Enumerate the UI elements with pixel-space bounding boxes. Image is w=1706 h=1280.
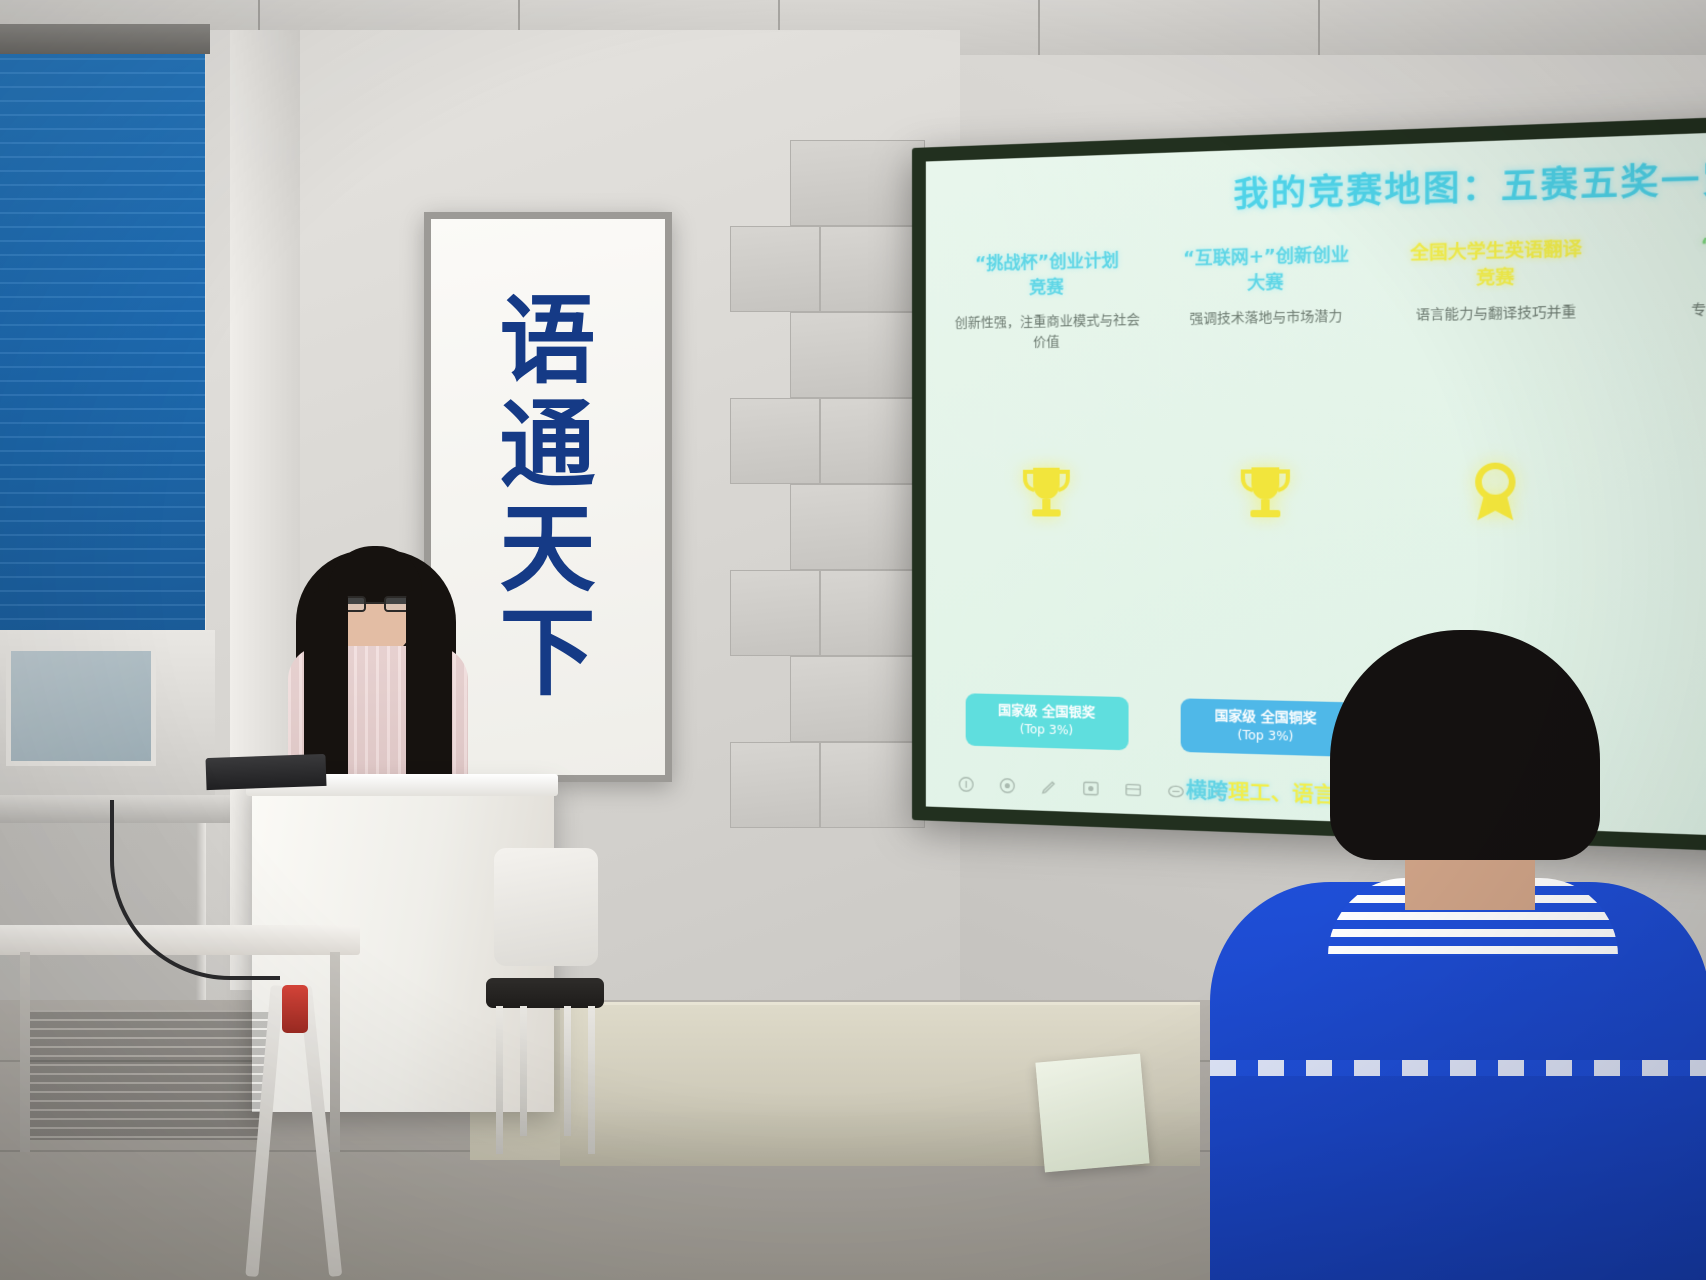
student-hair xyxy=(1330,630,1600,860)
competition-cards: “挑战杯”创业计划 竞赛 创新性强，注重商业模式与社会价值 “互联网+”创新创业… xyxy=(952,227,1706,354)
card-title-line1: 全国大学生英语翻译 xyxy=(1391,236,1602,267)
card-title: “互联网+”创新创业 大赛 xyxy=(1166,242,1367,298)
blind-headrail xyxy=(0,24,210,54)
pen-icon[interactable] xyxy=(1038,776,1058,797)
glasses-icon xyxy=(337,596,413,612)
competition-card: “外研社 语 专业性强，考 xyxy=(1627,230,1706,344)
card-title-line1: “互联网+”创新创业 xyxy=(1166,242,1367,273)
competition-card: “挑战杯”创业计划 竞赛 创新性强，注重商业模式与社会价值 xyxy=(952,248,1143,354)
presenter-hair-right xyxy=(406,590,452,805)
seated-student xyxy=(1090,630,1706,1280)
equipment-case xyxy=(30,1010,270,1140)
award-icons-row xyxy=(952,459,1706,528)
classroom-presentation-scene: 语 通 天 下 我的竞赛地图：五赛五奖一览 “挑战杯”创业计划 竞赛 创新性强，… xyxy=(0,0,1706,1280)
tiled-pillar xyxy=(790,140,925,830)
card-title: 全国大学生英语翻译 竞赛 xyxy=(1391,236,1602,293)
card-title-line2: 大赛 xyxy=(1166,268,1367,298)
medal-ribbon-icon xyxy=(1466,460,1524,526)
trophy-cell xyxy=(1627,460,1706,529)
slide-title: 我的竞赛地图：五赛五奖一览 xyxy=(1233,149,1706,216)
cursor-icon[interactable] xyxy=(956,773,976,794)
chair xyxy=(486,848,604,1148)
medal-cell xyxy=(1391,460,1602,527)
card-description: 强调技术落地与市场潜力 xyxy=(1166,307,1367,331)
banner-char-2: 通 xyxy=(500,395,597,495)
card-description: 语言能力与翻译技巧并重 xyxy=(1391,302,1602,327)
banner-char-1: 语 xyxy=(500,291,597,391)
trophy-cell xyxy=(1166,461,1367,526)
banner-char-4: 下 xyxy=(500,603,597,703)
card-title-line2: 竞赛 xyxy=(952,273,1143,302)
card-title: “挑战杯”创业计划 竞赛 xyxy=(952,248,1143,302)
card-title-line1: “挑战杯”创业计划 xyxy=(952,248,1143,278)
banner-char-3: 天 xyxy=(500,499,597,599)
competition-card: 全国大学生英语翻译 竞赛 语言能力与翻译技巧并重 xyxy=(1391,236,1602,347)
tripod-stand xyxy=(252,985,342,1280)
trophy-cell xyxy=(952,461,1143,525)
card-title-line2: 竞赛 xyxy=(1391,263,1602,294)
trophy-icon xyxy=(1234,461,1296,526)
jacket-stripe xyxy=(1210,1060,1706,1076)
card-title-line1: “外研社 xyxy=(1627,230,1706,262)
competition-card: “互联网+”创新创业 大赛 强调技术落地与市场潜力 xyxy=(1166,242,1367,350)
card-title: “外研社 语 xyxy=(1627,230,1706,289)
card-title-line2: 语 xyxy=(1627,257,1706,289)
laptop[interactable] xyxy=(205,754,326,790)
trophy-icon xyxy=(1017,462,1076,525)
notebook xyxy=(1035,1054,1149,1173)
pointer-icon[interactable] xyxy=(997,775,1017,796)
chair-seat xyxy=(486,978,604,1008)
tripod-clamp xyxy=(282,985,308,1033)
chair-backrest xyxy=(494,848,598,966)
card-description: 专业性强，考 xyxy=(1627,297,1706,322)
window-blind xyxy=(0,30,205,650)
window-glass xyxy=(6,646,156,766)
card-description: 创新性强，注重商业模式与社会价值 xyxy=(952,311,1143,354)
